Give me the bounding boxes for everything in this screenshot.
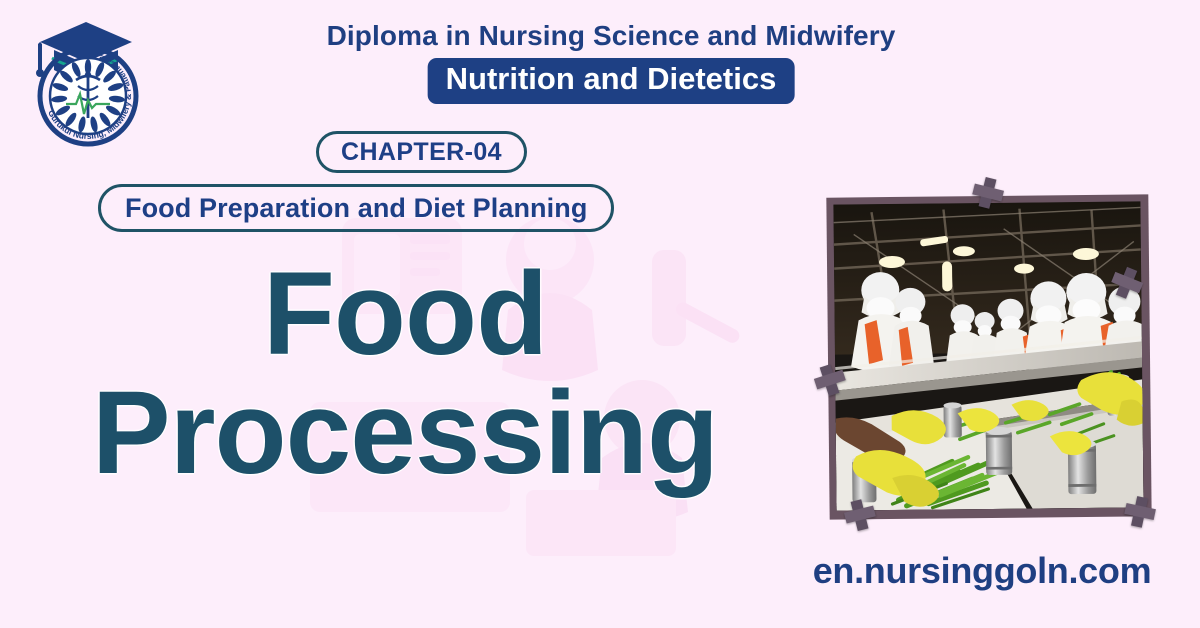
photo-frame bbox=[826, 194, 1151, 519]
site-url[interactable]: en.nursinggoln.com bbox=[812, 550, 1152, 592]
chapter-badge: CHAPTER-04 bbox=[316, 131, 527, 173]
main-title: Food Processing bbox=[0, 258, 810, 491]
topic-badge: Food Preparation and Diet Planning bbox=[98, 184, 614, 232]
subject-badge: Nutrition and Dietetics bbox=[428, 58, 795, 104]
main-title-line-2: Processing bbox=[0, 377, 810, 490]
food-processing-photo bbox=[833, 201, 1143, 510]
clip-bottom-right-icon bbox=[1122, 494, 1158, 530]
program-title: Diploma in Nursing Science and Midwifery bbox=[0, 20, 1200, 52]
main-title-line-1: Food bbox=[0, 258, 810, 371]
